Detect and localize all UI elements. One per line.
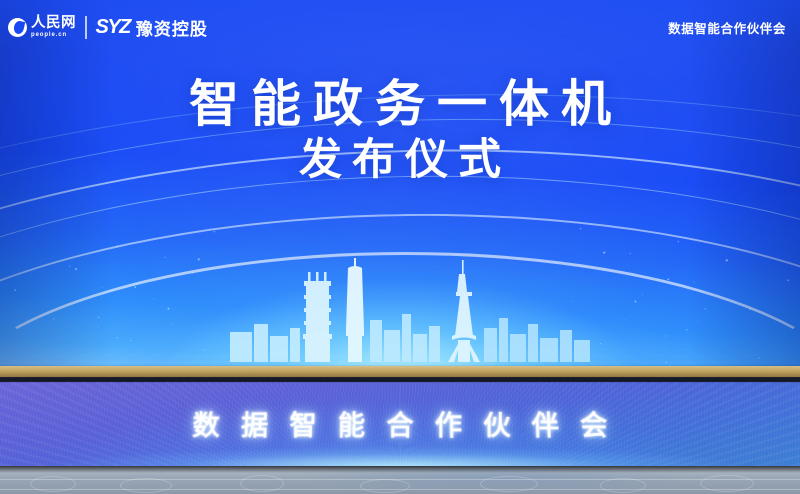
light-arc-decoration bbox=[0, 208, 800, 368]
floor-tile-pattern bbox=[700, 475, 754, 492]
floor-tile-pattern bbox=[360, 479, 410, 493]
floor-tile-pattern bbox=[240, 475, 284, 492]
floor-tile-pattern bbox=[30, 476, 76, 492]
light-arc-decoration bbox=[0, 164, 800, 368]
particle-speckles-icon bbox=[54, 202, 264, 368]
stage-gold-trim bbox=[0, 366, 800, 377]
venue-floor bbox=[0, 466, 800, 494]
people-cn-logo: 人民网 people.cn bbox=[8, 16, 76, 39]
floor-tile-pattern bbox=[600, 478, 646, 493]
stage-front-led-panel: 数据智能合作伙伴会 bbox=[0, 382, 800, 468]
broadcast-tower-shape bbox=[448, 260, 480, 362]
floor-shadow bbox=[0, 466, 800, 473]
zhongyuan-tower-shape bbox=[346, 258, 364, 362]
perspective-grid-decoration bbox=[0, 331, 800, 368]
particle-speckles-icon bbox=[0, 224, 253, 368]
syz-chinese-label: 豫资控股 bbox=[136, 15, 208, 40]
logo-group: 人民网 people.cn SYZ 豫资控股 bbox=[8, 15, 208, 40]
floor-tile-pattern bbox=[480, 476, 538, 492]
zhengzhou-skyline-icon bbox=[230, 258, 590, 362]
people-cn-chinese-label: 人民网 bbox=[31, 16, 76, 31]
logo-divider bbox=[85, 16, 87, 39]
particle-speckles-icon bbox=[533, 199, 742, 363]
light-arc-decoration bbox=[0, 252, 800, 368]
erqi-tower-shape bbox=[303, 272, 332, 362]
led-backdrop-wall bbox=[0, 0, 800, 368]
syz-logo: SYZ 豫资控股 bbox=[96, 15, 208, 40]
particle-speckles-icon bbox=[552, 217, 800, 368]
floor-tile-pattern bbox=[120, 478, 172, 493]
light-arc-decoration bbox=[0, 91, 800, 368]
event-tag-label: 数据智能合作伙伴会 bbox=[668, 18, 786, 37]
syz-logo-icon: SYZ bbox=[96, 16, 130, 39]
stage-banner-text: 数据智能合作伙伴会 bbox=[0, 404, 800, 443]
event-stage-photo: 人民网 people.cn SYZ 豫资控股 数据智能合作伙伴会 智能政务一体机… bbox=[0, 0, 800, 494]
backdrop-vignette bbox=[0, 0, 800, 368]
people-cn-logo-icon bbox=[8, 18, 27, 37]
light-arc-decoration bbox=[0, 131, 800, 368]
people-cn-english-label: people.cn bbox=[31, 32, 76, 38]
light-arc-decoration bbox=[0, 57, 800, 368]
header-strip: 人民网 people.cn SYZ 豫资控股 数据智能合作伙伴会 bbox=[0, 0, 800, 54]
